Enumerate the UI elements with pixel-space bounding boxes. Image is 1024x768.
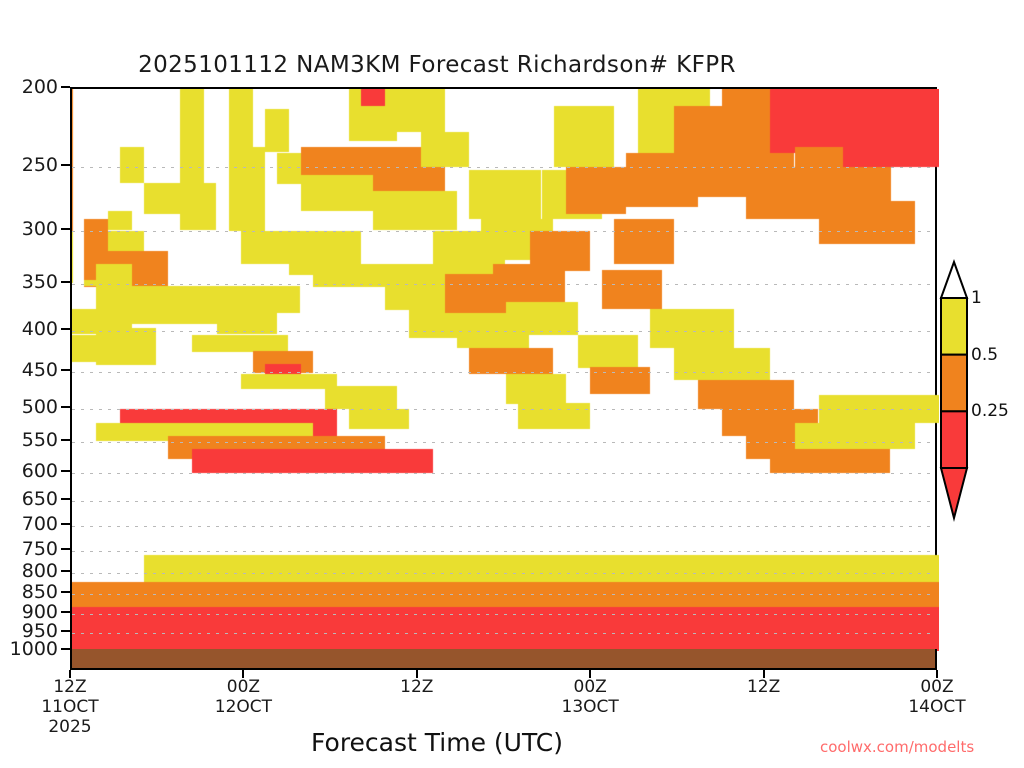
x-tick-time-0: 12Z: [41, 677, 98, 697]
x-tick-label-3: 00Z13OCT: [562, 677, 619, 717]
y-tick-mark-650: [61, 498, 70, 500]
y-tick-label-300: 300: [0, 218, 58, 240]
gridline-450: [72, 372, 935, 373]
y-tick-label-650: 650: [0, 488, 58, 510]
y-tick-label-700: 700: [0, 513, 58, 535]
gridline-900: [72, 614, 935, 615]
y-tick-mark-250: [61, 164, 70, 166]
y-tick-mark-850: [61, 591, 70, 593]
gridline-300: [72, 231, 935, 232]
y-tick-mark-200: [61, 86, 70, 88]
y-tick-mark-450: [61, 369, 70, 371]
x-tick-date-1: 12OCT: [215, 697, 272, 717]
colorbar-label-0.5: 0.5: [971, 345, 998, 365]
x-tick-label-5: 00Z14OCT: [908, 677, 965, 717]
x-tick-label-4: 12Z: [747, 677, 780, 697]
y-tick-label-350: 350: [0, 271, 58, 293]
y-tick-mark-500: [61, 406, 70, 408]
chart-root: 2025101112 NAM3KM Forecast Richardson# K…: [0, 0, 1024, 768]
y-tick-mark-550: [61, 439, 70, 441]
colorbar-label-0.25: 0.25: [971, 401, 1009, 421]
gridline-550: [72, 442, 935, 443]
y-tick-label-450: 450: [0, 359, 58, 381]
x-tick-time-5: 00Z: [908, 677, 965, 697]
x-tick-date-3: 13OCT: [562, 697, 619, 717]
watermark: coolwx.com/modelts: [820, 738, 974, 756]
gridline-800: [72, 573, 935, 574]
y-tick-mark-950: [61, 630, 70, 632]
colorbar-outline: [941, 262, 967, 502]
chart-title: 2025101112 NAM3KM Forecast Richardson# K…: [0, 52, 1024, 78]
colorbar-legend[interactable]: 10.50.25: [941, 298, 967, 468]
gridline-400: [72, 331, 935, 332]
gridline-500: [72, 409, 935, 410]
y-tick-mark-1000: [61, 648, 70, 650]
y-tick-mark-300: [61, 228, 70, 230]
y-tick-mark-700: [61, 523, 70, 525]
y-tick-label-750: 750: [0, 538, 58, 560]
y-tick-mark-800: [61, 570, 70, 572]
gridlines: [72, 89, 935, 647]
colorbar-label-1: 1: [971, 288, 982, 308]
y-tick-label-850: 850: [0, 581, 58, 603]
gridline-350: [72, 284, 935, 285]
gridline-650: [72, 501, 935, 502]
y-tick-label-1000: 1000: [0, 638, 58, 660]
y-tick-label-550: 550: [0, 429, 58, 451]
y-tick-label-600: 600: [0, 460, 58, 482]
x-tick-time-2: 12Z: [400, 677, 433, 697]
gridline-950: [72, 633, 935, 634]
gridline-600: [72, 473, 935, 474]
x-tick-time-3: 00Z: [562, 677, 619, 697]
y-tick-label-200: 200: [0, 76, 58, 98]
plot-area[interactable]: [70, 87, 937, 649]
y-tick-mark-350: [61, 281, 70, 283]
x-tick-date-5: 14OCT: [908, 697, 965, 717]
y-tick-mark-400: [61, 328, 70, 330]
y-tick-label-500: 500: [0, 396, 58, 418]
x-tick-time-4: 12Z: [747, 677, 780, 697]
y-tick-label-400: 400: [0, 318, 58, 340]
x-tick-date-0: 11OCT: [41, 697, 98, 717]
y-tick-mark-750: [61, 548, 70, 550]
x-tick-label-1: 00Z12OCT: [215, 677, 272, 717]
x-tick-time-1: 00Z: [215, 677, 272, 697]
gridline-700: [72, 526, 935, 527]
y-tick-mark-900: [61, 611, 70, 613]
gridline-750: [72, 551, 935, 552]
y-tick-label-800: 800: [0, 560, 58, 582]
y-tick-label-250: 250: [0, 154, 58, 176]
terrain-band: [70, 649, 937, 670]
gridline-250: [72, 167, 935, 168]
x-tick-label-2: 12Z: [400, 677, 433, 697]
gridline-850: [72, 594, 935, 595]
y-tick-mark-600: [61, 470, 70, 472]
